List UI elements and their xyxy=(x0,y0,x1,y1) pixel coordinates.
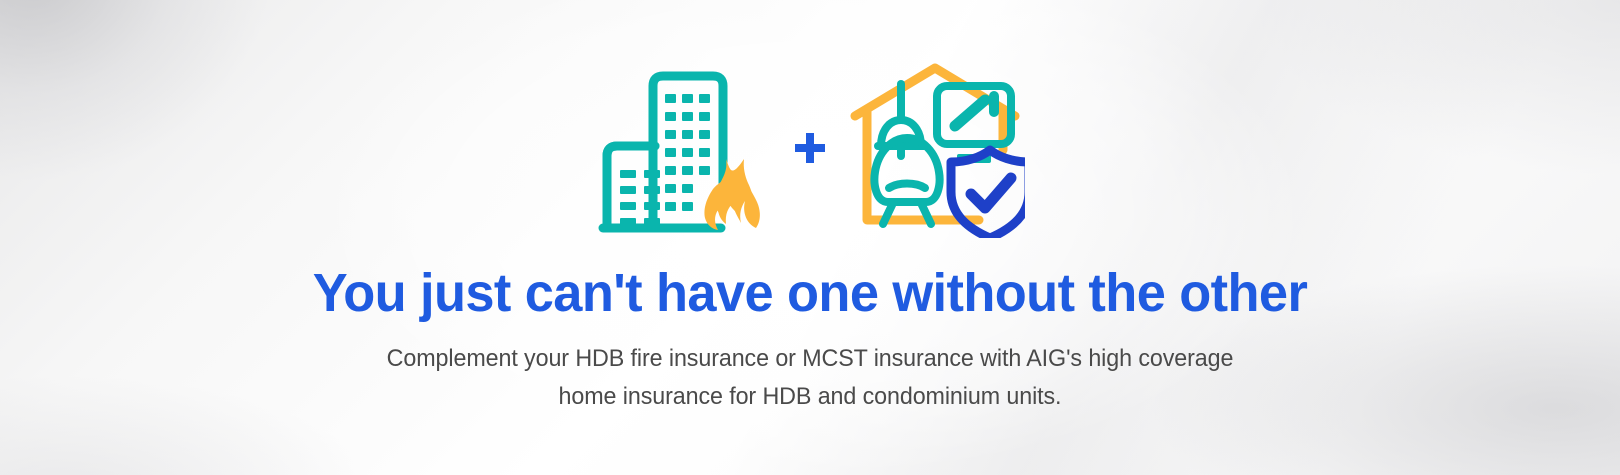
buildings-on-fire-icon xyxy=(595,58,775,238)
flame-icon xyxy=(704,159,759,230)
icon-row xyxy=(0,58,1620,238)
tall-building-windows xyxy=(665,94,710,211)
subtitle: Complement your HDB fire insurance or MC… xyxy=(0,340,1620,416)
plus-sign xyxy=(775,58,845,238)
promo-banner: You just can't have one without the othe… xyxy=(0,0,1620,475)
armchair-icon xyxy=(874,138,939,224)
home-contents-protected-icon xyxy=(845,58,1025,238)
subtitle-line-2: home insurance for HDB and condominium u… xyxy=(24,378,1595,416)
subtitle-line-1: Complement your HDB fire insurance or MC… xyxy=(24,340,1595,378)
shield-check-icon xyxy=(951,150,1025,238)
page-title: You just can't have one without the othe… xyxy=(24,262,1595,324)
